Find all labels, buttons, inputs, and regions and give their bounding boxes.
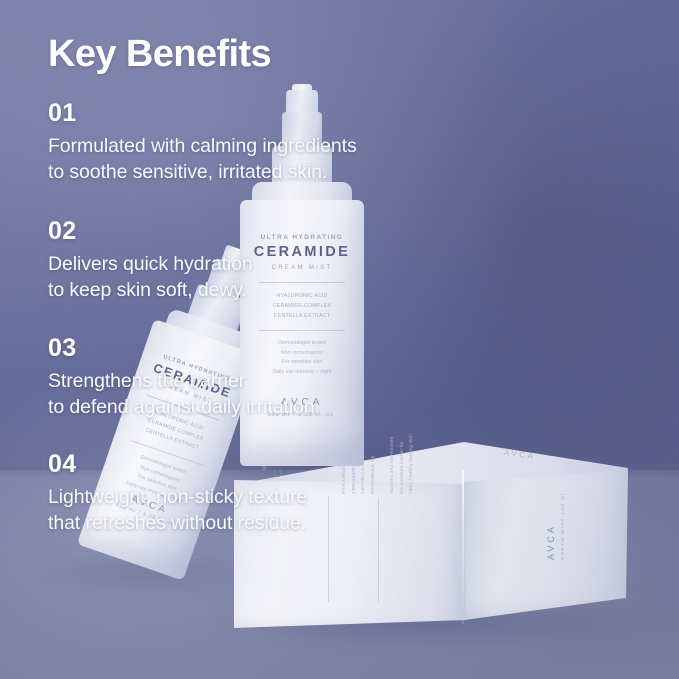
benefit-line-02-b: to keep skin soft, dewy. — [48, 278, 518, 304]
benefit-text-01: Formulated with calming ingredients to s… — [48, 134, 518, 185]
benefit-line-03-b: to defend against daily irritation. — [48, 395, 518, 421]
benefit-text-04: Lightweight, non-sticky texture that ref… — [48, 485, 518, 536]
benefit-line-04-b: that refreshes without residue. — [48, 511, 518, 537]
page-title: Key Benefits — [48, 34, 518, 76]
benefits-copy-block: Key Benefits 01 Formulated with calming … — [48, 34, 518, 537]
benefit-line-01-a: Formulated with calming ingredients — [48, 134, 518, 160]
carton-brand-logo: AVCA — [546, 524, 556, 560]
benefit-text-02: Delivers quick hydration to keep skin so… — [48, 252, 518, 303]
benefit-item-01: 01 Formulated with calming ingredients t… — [48, 98, 518, 186]
benefit-text-03: Strengthens the barrier to defend agains… — [48, 369, 518, 420]
product-marketing-image: AVCA ULTRA HYDRATING CERAMIDE CREAM MIST… — [0, 0, 679, 679]
benefit-line-04-a: Lightweight, non-sticky texture — [48, 485, 518, 511]
benefit-number-01: 01 — [48, 98, 518, 129]
benefit-line-03-a: Strengthens the barrier — [48, 369, 518, 395]
benefit-line-01-b: to soothe sensitive, irritated skin. — [48, 160, 518, 186]
benefit-number-04: 04 — [48, 449, 518, 480]
carton-brand-sub: CREAM MIST 100 ml — [560, 492, 565, 560]
benefit-number-03: 03 — [48, 333, 518, 364]
benefit-line-02-a: Delivers quick hydration — [48, 252, 518, 278]
benefit-number-02: 02 — [48, 216, 518, 247]
benefit-item-02: 02 Delivers quick hydration to keep skin… — [48, 216, 518, 304]
benefit-item-04: 04 Lightweight, non-sticky texture that … — [48, 449, 518, 537]
benefit-item-03: 03 Strengthens the barrier to defend aga… — [48, 333, 518, 421]
